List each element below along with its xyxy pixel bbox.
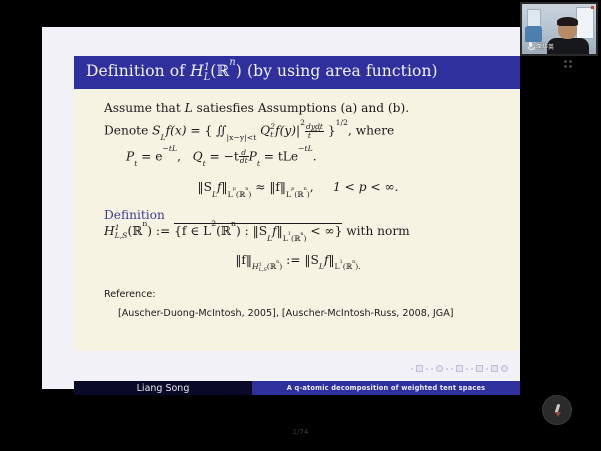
beamer-slide: Definition of H1L(ℝn) (by using area fun… <box>42 27 520 389</box>
chair-background <box>525 26 542 42</box>
reference-entries: [Auscher-Duong-McIntosh, 2005], [Auscher… <box>104 309 520 319</box>
presentation-stage: Definition of H1L(ℝn) (by using area fun… <box>0 0 601 451</box>
nav-section-icon[interactable] <box>436 365 443 372</box>
closure-overline: {f ∈ L2(ℝn) : ‖SLf‖L1(ℝn) < ∞} <box>174 223 342 237</box>
nav-frame-icon[interactable] <box>476 365 483 372</box>
nav-dot-icon[interactable] <box>451 368 453 370</box>
definition-heading: Definition <box>104 209 520 221</box>
slide-footer: Liang Song A q-atomic decomposition of w… <box>74 381 520 395</box>
slide-title-bar: Definition of H1L(ℝn) (by using area fun… <box>74 56 520 89</box>
annotate-button[interactable] <box>542 395 572 425</box>
operator-definition-line: Pt = e−tL, Qt = −tddtPt = tLe−tL. <box>104 149 520 165</box>
beamer-navigation-bar[interactable] <box>411 365 508 372</box>
slide-title: Definition of H1L(ℝn) (by using area fun… <box>74 62 438 82</box>
footer-talk-title: A q-atomic decomposition of weighted ten… <box>252 381 520 395</box>
nav-forward-icon[interactable] <box>501 365 508 372</box>
participant-video-tile[interactable]: 李华英 <box>520 2 598 56</box>
reference-label: Reference: <box>104 290 520 300</box>
drag-handle-icon[interactable] <box>564 60 573 69</box>
footer-author: Liang Song <box>74 381 252 395</box>
norm-equivalence-line: ‖SLf‖Lp(ℝn) ≈ ‖f‖Lp(ℝn), 1 < p < ∞. <box>104 181 520 193</box>
nav-back-icon[interactable] <box>491 365 498 372</box>
nav-dot-icon[interactable] <box>471 368 473 370</box>
recording-indicator-icon <box>591 6 594 9</box>
definition-norm-line: ‖f‖H1L,S(ℝn) := ‖SLf‖L1(ℝn). <box>104 254 520 272</box>
nav-subsection-icon[interactable] <box>456 365 463 372</box>
window-background-icon <box>576 7 594 39</box>
slide-body-inner: Assume that L satiesfies Assumptions (a)… <box>74 89 520 318</box>
slide-body: Assume that L satiesfies Assumptions (a)… <box>74 89 520 351</box>
pen-annotate-icon <box>551 404 564 417</box>
hls-scripts: 1L,S <box>115 225 128 239</box>
microphone-muted-icon <box>528 42 534 50</box>
dydt-fraction: dydttn+1 <box>305 123 324 139</box>
assumption-line: Assume that L satiesfies Assumptions (a)… <box>104 102 520 114</box>
denote-line: Denote SLf(x) = { ∬|x−y|<t Q2tf(y)|2dydt… <box>104 123 520 139</box>
slide-title-suffix: (by using area function) <box>247 62 438 80</box>
definition-line: H1L,S(ℝn) := {f ∈ L2(ℝn) : ‖SLf‖L1(ℝn) <… <box>104 223 520 239</box>
slide-title-prefix: Definition of <box>86 62 185 80</box>
page-counter: 1/74 <box>0 428 601 436</box>
participant-hair <box>557 17 578 26</box>
nav-dot-icon[interactable] <box>446 368 448 370</box>
nav-slide-icon[interactable] <box>416 365 423 372</box>
participant-name-chip: 李华英 <box>526 41 556 51</box>
slide-title-symbol: H1L(ℝn) <box>190 62 247 80</box>
nav-dot-icon[interactable] <box>431 368 433 370</box>
wall-panel-background <box>527 9 541 27</box>
nav-dot-icon[interactable] <box>466 368 468 370</box>
nav-dot-icon[interactable] <box>426 368 428 370</box>
participant-name: 李华英 <box>536 42 554 51</box>
nav-dot-icon[interactable] <box>411 368 413 370</box>
d-dt-fraction: ddt <box>239 149 249 165</box>
nav-dot-icon[interactable] <box>486 368 488 370</box>
